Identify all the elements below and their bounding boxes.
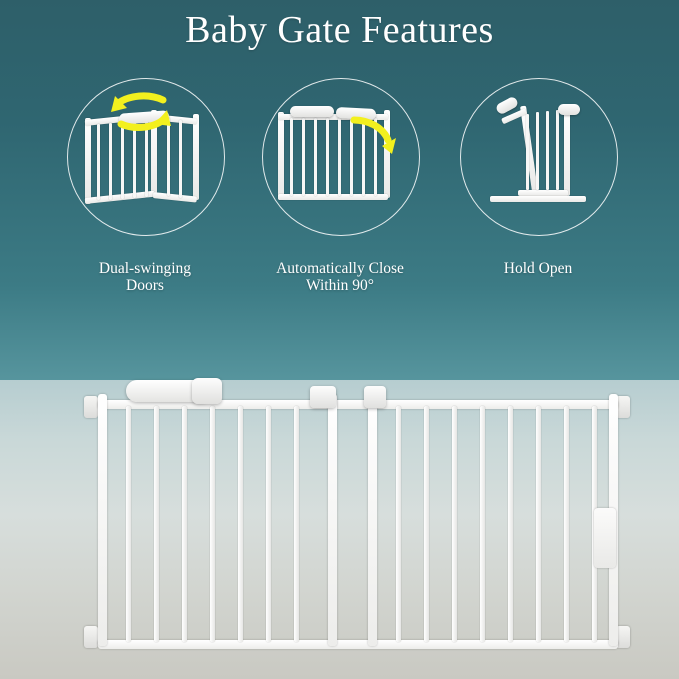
gate-slat <box>480 406 485 642</box>
gate-slat <box>266 406 271 642</box>
gate-slat <box>424 406 429 642</box>
gate-slat <box>508 406 513 642</box>
gate-post-door <box>368 394 377 646</box>
icon-gate-base-rail <box>490 196 586 202</box>
feature-label-line1: Dual-swinging <box>99 260 191 277</box>
gate-post-middle <box>328 394 337 646</box>
feature-label-line1: Hold Open <box>504 260 572 277</box>
page-title: Baby Gate Features <box>0 8 679 52</box>
gate-dual-swing-icon <box>67 78 223 234</box>
icon-gate-slat <box>536 112 539 190</box>
gate-hinge-top <box>310 386 336 408</box>
product-feature-image: Baby Gate Features <box>0 0 679 679</box>
gate-slat <box>564 406 569 642</box>
gate-post-left <box>98 394 107 646</box>
feature-label: Dual-swinging Doors <box>40 260 250 294</box>
gate-wall-mount <box>84 626 98 648</box>
gate-slat <box>154 406 159 642</box>
icon-gate-slat <box>526 114 529 190</box>
icon-gate-post <box>564 110 570 196</box>
feature-label-line2: Within 90° <box>306 277 374 294</box>
gate-hold-open-stopper[interactable] <box>594 508 616 568</box>
swing-arrows-icon <box>67 78 223 234</box>
gate-wall-mount <box>84 396 98 418</box>
auto-close-arrow-icon <box>262 78 418 234</box>
gate-slat <box>294 406 299 642</box>
gate-slat <box>536 406 541 642</box>
gate-wall-mount <box>616 626 630 648</box>
feature-list: Dual-swinging Doors <box>0 78 679 308</box>
icon-gate-handle-open <box>558 104 580 115</box>
gate-wall-mount <box>616 396 630 418</box>
baby-gate <box>96 388 620 660</box>
feature-label: Hold Open <box>433 260 643 277</box>
gate-hold-open-icon <box>460 78 616 234</box>
feature-label-line1: Automatically Close <box>276 260 404 277</box>
gate-slat <box>452 406 457 642</box>
gate-auto-close-icon <box>262 78 418 234</box>
icon-gate-slat <box>546 111 549 190</box>
gate-latch-button[interactable] <box>192 378 222 404</box>
gate-slat <box>126 406 131 642</box>
gate-slat <box>210 406 215 642</box>
icon-gate-slat <box>556 110 559 190</box>
feature-label: Automatically Close Within 90° <box>235 260 445 294</box>
gate-slat <box>396 406 401 642</box>
feature-label-line2: Doors <box>126 277 164 294</box>
gate-hinge-top-right <box>364 386 386 408</box>
gate-slat <box>238 406 243 642</box>
gate-slat <box>182 406 187 642</box>
